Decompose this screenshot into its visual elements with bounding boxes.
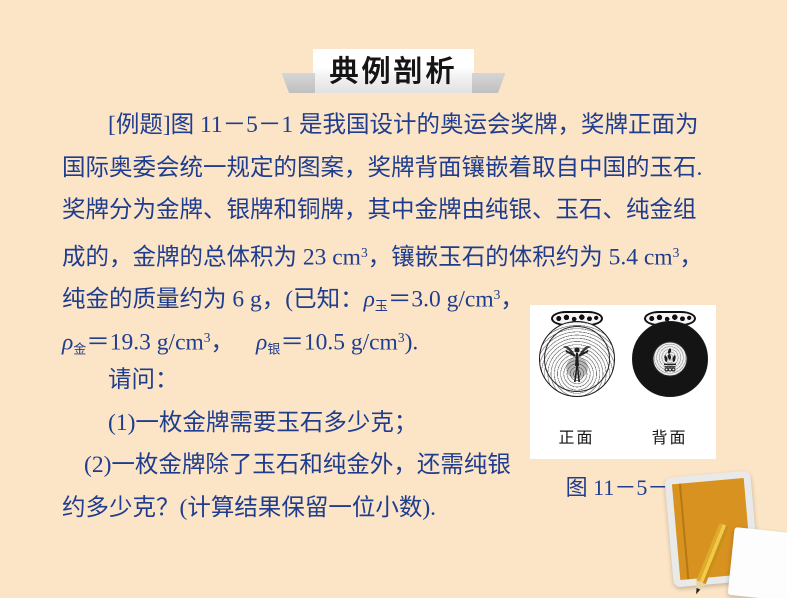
total-volume-exponent: 3 xyxy=(361,245,368,260)
line5-a: 纯金的质量约为 xyxy=(62,286,232,312)
question-2-text-a: (2)一枚金牌除了玉石和纯金外，还需纯银 xyxy=(84,452,511,478)
rho-silver-equals: ＝ xyxy=(280,329,304,355)
rho-gold-equals: ＝ xyxy=(86,329,110,355)
banner-tail-right-icon xyxy=(472,73,506,93)
rho-jade-unit: g/cm xyxy=(441,286,494,312)
rho-subscript-jade: 玉 xyxy=(375,298,388,313)
rho-silver-value: 10.5 xyxy=(304,329,345,355)
rho-symbol-silver: ρ xyxy=(256,329,267,355)
medal-front-disc-icon xyxy=(539,321,615,397)
banner-ribbon: 典例剖析 xyxy=(313,49,473,93)
total-volume-unit: cm xyxy=(326,244,361,270)
gold-mass-unit: g xyxy=(244,286,262,312)
problem-line-3: 奖牌分为金牌、银牌和铜牌，其中金牌由纯银、玉石、纯金组 xyxy=(62,189,762,232)
line5-c: ， xyxy=(500,286,524,312)
line1-figure-ref: 11－5－1 xyxy=(200,112,293,138)
rho-subscript-silver: 银 xyxy=(267,341,280,356)
rho-gold-unit: g/cm xyxy=(151,329,204,355)
total-volume-value: 23 xyxy=(303,244,327,270)
rho-silver-unit: g/cm xyxy=(345,329,398,355)
problem-line-1: [例题]图 11－5－1 是我国设计的奥运会奖牌，奖牌正面为 xyxy=(62,104,762,147)
medal-front-label: 正面 xyxy=(558,424,594,448)
line4-c: ， xyxy=(679,244,703,270)
banner-tail-left-icon xyxy=(281,73,315,93)
medal-back xyxy=(630,309,710,409)
medal-back-disc-icon xyxy=(632,321,708,397)
line1-text-a: 图 xyxy=(171,112,200,138)
section-title: 典例剖析 xyxy=(329,57,457,86)
line5-b: ，(已知： xyxy=(262,286,364,312)
slide-canvas: 典例剖析 [例题]图 11－5－1 是我国设计的奥运会奖牌，奖牌正面为 国际奥委… xyxy=(0,0,787,598)
gold-mass-value: 6 xyxy=(232,286,244,312)
jade-volume-value: 5.4 xyxy=(609,244,638,270)
medal-pair xyxy=(530,309,716,417)
problem-line-2: 国际奥委会统一规定的图案，奖牌背面镶嵌着取自中国的玉石. xyxy=(62,147,762,190)
medal-back-label: 背面 xyxy=(651,424,687,448)
rho-gold-exponent: 3 xyxy=(204,330,211,345)
ask-label-text: 请问： xyxy=(108,367,179,393)
medal-front xyxy=(537,309,617,409)
line1-text-b: 是我国设计的奥运会奖牌，奖牌正面为 xyxy=(293,112,698,138)
rho-gold-value: 19.3 xyxy=(110,329,151,355)
rho-jade-value: 3.0 xyxy=(411,286,440,312)
question-1-text: (1)一枚金牌需要玉石多少克； xyxy=(108,410,417,436)
medal-figure-image: 正面 背面 xyxy=(530,305,716,459)
winged-victory-figure-icon xyxy=(562,344,592,386)
rho-subscript-gold: 金 xyxy=(73,341,86,356)
problem-line-4: 成的，金牌的总体积为 23 cm3，镶嵌玉石的体积约为 5.4 cm3， xyxy=(62,232,762,275)
paper-sheet-icon xyxy=(728,527,787,598)
line4-b: ，镶嵌玉石的体积约为 xyxy=(368,244,609,270)
rho-jade-equals: ＝ xyxy=(388,286,412,312)
line6-separator: ， xyxy=(211,329,235,355)
jade-volume-unit: cm xyxy=(638,244,673,270)
example-tag: [例题] xyxy=(108,112,171,138)
line4-a: 成的，金牌的总体积为 xyxy=(62,244,303,270)
rho-symbol-gold: ρ xyxy=(62,329,73,355)
decorative-notebook-graphic xyxy=(661,464,787,598)
beijing-2008-emblem-icon xyxy=(659,346,681,372)
section-banner: 典例剖析 xyxy=(0,46,787,96)
rho-silver-exponent: 3 xyxy=(398,330,405,345)
line6-tail: ). xyxy=(405,329,419,355)
medal-labels: 正面 背面 xyxy=(530,417,716,455)
rho-symbol-jade: ρ xyxy=(364,286,375,312)
